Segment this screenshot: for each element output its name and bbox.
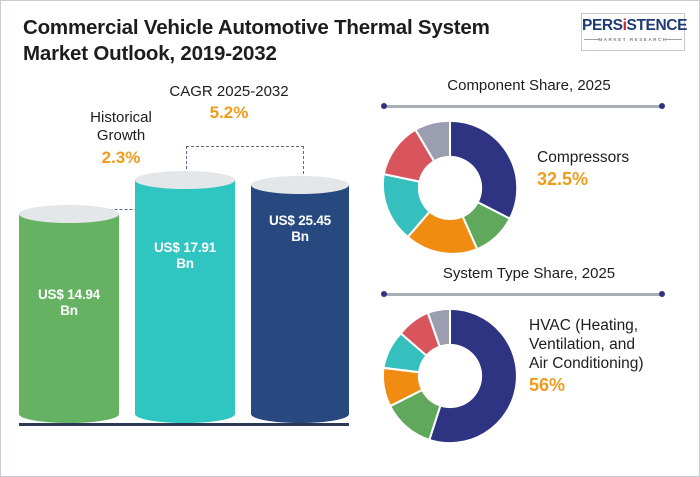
bar-2025-top-ellipse xyxy=(135,171,235,189)
bar-2019-value: US$ 14.94 Bn xyxy=(19,287,119,319)
system-type-share-panel: System Type Share, 2025 HVAC (Heating, V… xyxy=(369,265,689,455)
bar-2025-body xyxy=(135,180,235,423)
system-type-share-donut[interactable] xyxy=(377,303,523,449)
bar-2019-top-ellipse xyxy=(19,205,119,223)
system-type-share-title: System Type Share, 2025 xyxy=(369,265,689,282)
system-type-share-legend-name-line3: Air Conditioning) xyxy=(529,355,694,374)
component-share-divider xyxy=(384,105,662,108)
divider-dot-right xyxy=(659,103,665,109)
infographic-card: Commercial Vehicle Automotive Thermal Sy… xyxy=(0,0,700,477)
bar-2032-value-line1: US$ 25.45 xyxy=(269,213,331,228)
system-type-share-legend-name-line1: HVAC (Heating, xyxy=(529,317,694,336)
bar-2025-value: US$ 17.91 Bn xyxy=(135,240,235,272)
component-share-legend-name: Compressors xyxy=(537,149,687,168)
bar-2019-value-line2: Bn xyxy=(60,303,78,318)
bar-2032-value: US$ 25.45 Bn xyxy=(251,213,349,245)
bar-2032-top-ellipse xyxy=(251,176,349,194)
system-type-share-legend: HVAC (Heating, Ventilation, and Air Cond… xyxy=(529,317,694,396)
bar-2032[interactable]: US$ 25.45 Bn 2032 xyxy=(251,176,349,423)
system-type-share-legend-value: 56% xyxy=(529,375,694,396)
bar-chart: CAGR 2025-2032 5.2% Historical Growth 2.… xyxy=(1,71,361,477)
logo-word-part1: PERS xyxy=(582,17,623,34)
historical-growth-annotation: Historical Growth 2.3% xyxy=(71,109,171,168)
logo-subtitle: MARKET RESEARCH xyxy=(582,37,684,42)
bar-2025-value-line1: US$ 17.91 xyxy=(154,240,216,255)
system-type-share-divider xyxy=(384,293,662,296)
bar-2025-value-line2: Bn xyxy=(176,256,194,271)
divider-dot-right xyxy=(659,291,665,297)
cagr-annotation-value: 5.2% xyxy=(149,103,309,123)
divider-dot-left xyxy=(381,103,387,109)
historical-growth-label: Historical Growth xyxy=(71,109,171,146)
bar-2019-value-line1: US$ 14.94 xyxy=(38,287,100,302)
bar-2019[interactable]: US$ 14.94 Bn 2019 xyxy=(19,205,119,423)
bar-2032-value-line2: Bn xyxy=(291,229,309,244)
logo-word-part2: STENCE xyxy=(627,17,687,34)
component-share-legend-value: 32.5% xyxy=(537,169,687,190)
cagr-annotation: CAGR 2025-2032 5.2% xyxy=(149,83,309,123)
page-title: Commercial Vehicle Automotive Thermal Sy… xyxy=(23,15,493,67)
logo-wordmark: PERSiSTENCE xyxy=(582,18,684,34)
component-share-legend: Compressors 32.5% xyxy=(537,149,687,190)
cagr-annotation-label: CAGR 2025-2032 xyxy=(149,83,309,101)
bar-2025[interactable]: US$ 17.91 Bn 2025 xyxy=(135,171,235,423)
component-share-donut[interactable] xyxy=(377,115,523,261)
component-share-title: Component Share, 2025 xyxy=(369,77,689,94)
historical-growth-value: 2.3% xyxy=(71,148,171,168)
component-share-panel: Component Share, 2025 Compressors 32.5% xyxy=(369,77,689,262)
system-type-share-legend-name-line2: Ventilation, and xyxy=(529,336,694,355)
divider-dot-left xyxy=(381,291,387,297)
x-axis-line xyxy=(19,423,349,426)
persistence-market-research-logo: PERSiSTENCE MARKET RESEARCH xyxy=(581,13,685,51)
